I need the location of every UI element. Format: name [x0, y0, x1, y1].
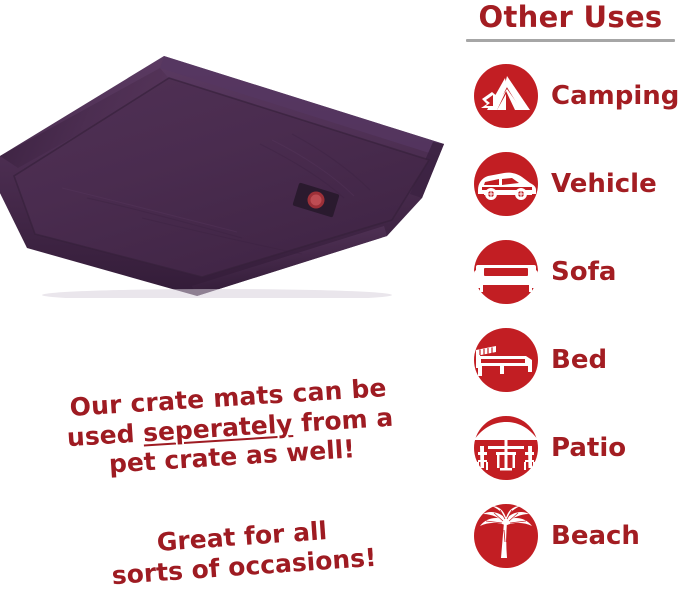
sofa-badge — [474, 240, 538, 304]
use-label-camping: Camping — [551, 83, 679, 109]
tent-icon — [474, 64, 538, 128]
patio-badge — [474, 416, 538, 480]
use-label-bed: Bed — [551, 347, 607, 373]
beach-badge — [474, 504, 538, 568]
infographic-page: Our crate mats can be used seperately fr… — [0, 0, 679, 593]
crate-mat-illustration — [0, 48, 444, 298]
sofa-icon — [474, 240, 538, 304]
palm-tree-icon — [474, 504, 538, 568]
vehicle-badge — [474, 152, 538, 216]
slogan-primary-line2-before: used — [66, 418, 144, 452]
use-row-patio[interactable]: Patio — [462, 404, 679, 492]
use-row-bed[interactable]: Bed — [462, 316, 679, 404]
slogan-secondary: Great for all sorts of occasions! — [76, 511, 409, 593]
use-row-sofa[interactable]: Sofa — [462, 228, 679, 316]
use-label-patio: Patio — [551, 435, 626, 461]
use-label-vehicle: Vehicle — [551, 171, 657, 197]
camping-badge — [474, 64, 538, 128]
bed-icon — [474, 328, 538, 392]
uses-list: Camping — [462, 52, 679, 580]
slogan-primary-line2-after: from a — [292, 402, 394, 437]
bed-badge — [474, 328, 538, 392]
patio-umbrella-icon — [474, 416, 538, 480]
use-label-sofa: Sofa — [551, 259, 616, 285]
panel-title: Other Uses — [462, 2, 679, 32]
use-row-camping[interactable]: Camping — [462, 52, 679, 140]
title-divider — [466, 39, 675, 42]
car-icon — [474, 152, 538, 216]
use-label-beach: Beach — [551, 523, 640, 549]
slogan-primary: Our crate mats can be used seperately fr… — [22, 370, 439, 484]
use-row-vehicle[interactable]: Vehicle — [462, 140, 679, 228]
use-row-beach[interactable]: Beach — [462, 492, 679, 580]
other-uses-panel: Other Uses — [462, 0, 679, 593]
product-image-area — [0, 0, 460, 340]
